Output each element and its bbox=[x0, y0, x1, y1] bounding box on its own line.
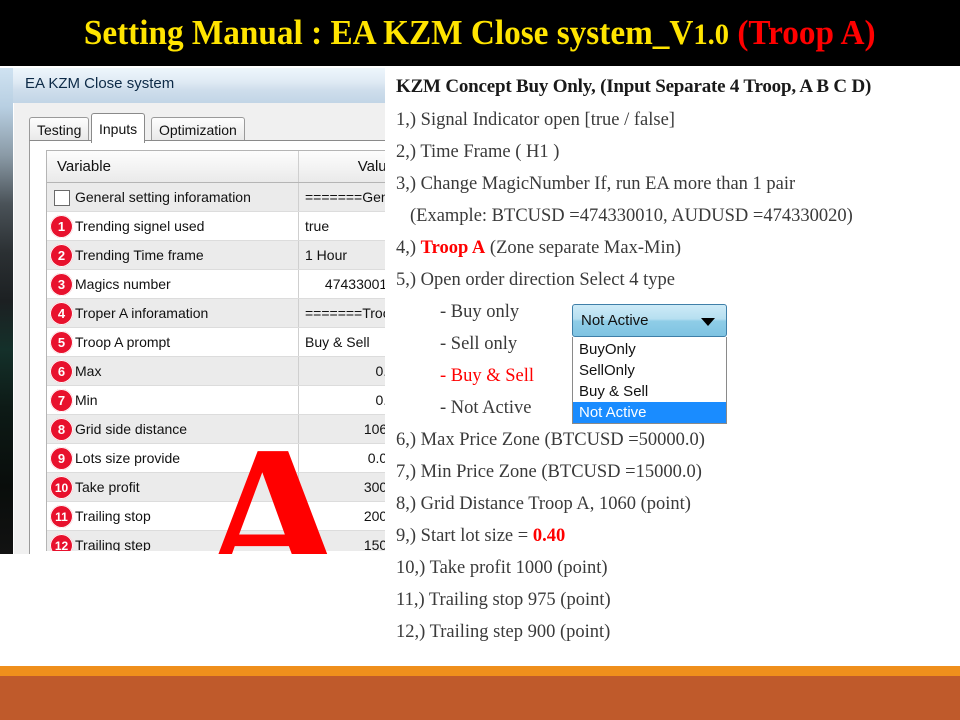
note-option-buy-and-sell-text: - Buy & Sell bbox=[440, 366, 534, 386]
step-badge-11: 11 bbox=[50, 505, 73, 528]
note-line-9-prefix: 9,) Start lot size = bbox=[396, 526, 533, 546]
note-line-9-lotsize: 0.40 bbox=[533, 526, 565, 546]
row-variable: Trending Time frame bbox=[47, 241, 299, 269]
row-variable: Trending signel used bbox=[47, 212, 299, 240]
row-value: 474330010 bbox=[299, 270, 385, 298]
page-title: Setting Manual : EA KZM Close system_V1.… bbox=[84, 13, 876, 53]
row-value: 2000 bbox=[299, 502, 385, 530]
step-badge-9: 9 bbox=[50, 447, 73, 470]
table-row[interactable]: 1 Trending signel used true bbox=[47, 212, 385, 241]
notes-heading: KZM Concept Buy Only, (Input Separate 4 … bbox=[396, 76, 956, 98]
table-row[interactable]: General setting inforamation =======Gene… bbox=[47, 183, 385, 212]
step-badge-5: 5 bbox=[50, 331, 73, 354]
inputs-grid[interactable]: Variable Value General setting inforamat… bbox=[46, 150, 385, 551]
dropdown-option-buyonly[interactable]: BuyOnly bbox=[573, 339, 726, 360]
notes-column: KZM Concept Buy Only, (Input Separate 4 … bbox=[396, 76, 956, 656]
table-row[interactable]: 4 Troper A inforamation =======Trooper bbox=[47, 299, 385, 328]
step-badge-1: 1 bbox=[50, 215, 73, 238]
title-main-text: Setting Manual : EA KZM Close system_V bbox=[84, 13, 694, 52]
row-value: =======Trooper bbox=[299, 299, 385, 327]
note-line-4-prefix: 4,) bbox=[396, 238, 421, 258]
step-badge-6: 6 bbox=[50, 360, 73, 383]
dropdown-options-list[interactable]: BuyOnly SellOnly Buy & Sell Not Active bbox=[572, 337, 727, 424]
row-value: Buy & Sell bbox=[299, 328, 385, 356]
window-edge-strip bbox=[0, 68, 13, 554]
table-row[interactable]: 7 Min 0.6 bbox=[47, 386, 385, 415]
inputs-tab-page: Variable Value General setting inforamat… bbox=[29, 140, 385, 554]
row-value: 3000 bbox=[299, 473, 385, 501]
column-header-value: Value bbox=[299, 151, 385, 182]
mt4-inputs-screenshot: EA KZM Close system Testing Inputs Optim… bbox=[0, 68, 385, 554]
step-badge-8: 8 bbox=[50, 418, 73, 441]
order-direction-dropdown[interactable]: Not Active BuyOnly SellOnly Buy & Sell N… bbox=[572, 304, 727, 424]
row-variable: Grid side distance bbox=[47, 415, 299, 443]
row-value: 1 Hour bbox=[299, 241, 385, 269]
table-row[interactable]: 9 Lots size provide 0.01 bbox=[47, 444, 385, 473]
step-badge-12: 12 bbox=[50, 534, 73, 551]
dropdown-selected-value: Not Active bbox=[573, 312, 649, 329]
title-troop-text: (Troop A) bbox=[738, 13, 876, 52]
tabstrip: Testing Inputs Optimization bbox=[29, 113, 384, 141]
note-line-3: 3,) Change MagicNumber If, run EA more t… bbox=[396, 168, 956, 200]
note-line-10: 10,) Take profit 1000 (point) bbox=[396, 552, 956, 584]
row-value: 0.8 bbox=[299, 357, 385, 385]
row-variable: Trailing stop bbox=[47, 502, 299, 530]
row-variable: Max bbox=[47, 357, 299, 385]
dropdown-button[interactable]: Not Active bbox=[572, 304, 727, 337]
grid-header-row: Variable Value bbox=[47, 151, 385, 183]
row-value: 0.01 bbox=[299, 444, 385, 472]
footer-band bbox=[0, 676, 960, 720]
step-badge-10: 10 bbox=[50, 476, 73, 499]
dialog-titlebar: EA KZM Close system bbox=[13, 68, 385, 104]
row-value: true bbox=[299, 212, 385, 240]
note-line-11: 11,) Trailing stop 975 (point) bbox=[396, 584, 956, 616]
row-value: 1500 bbox=[299, 531, 385, 551]
tab-inputs[interactable]: Inputs bbox=[91, 113, 145, 143]
dropdown-option-buy-and-sell[interactable]: Buy & Sell bbox=[573, 381, 726, 402]
row-variable: Lots size provide bbox=[47, 444, 299, 472]
row-value: 0.6 bbox=[299, 386, 385, 414]
dialog-title: EA KZM Close system bbox=[25, 75, 174, 92]
step-badge-4: 4 bbox=[50, 302, 73, 325]
note-line-9: 9,) Start lot size = 0.40 bbox=[396, 520, 956, 552]
tab-testing[interactable]: Testing bbox=[29, 117, 89, 141]
table-row[interactable]: 5 Troop A prompt Buy & Sell bbox=[47, 328, 385, 357]
table-row[interactable]: 11 Trailing stop 2000 bbox=[47, 502, 385, 531]
row-variable: Troop A prompt bbox=[47, 328, 299, 356]
table-row[interactable]: 10 Take profit 3000 bbox=[47, 473, 385, 502]
title-version-text: 1.0 bbox=[694, 18, 730, 51]
note-line-4-suffix: (Zone separate Max-Min) bbox=[485, 238, 681, 258]
step-badge-3: 3 bbox=[50, 273, 73, 296]
note-line-7: 7,) Min Price Zone (BTCUSD =15000.0) bbox=[396, 456, 956, 488]
row-variable: Take profit bbox=[47, 473, 299, 501]
row-value: 1060 bbox=[299, 415, 385, 443]
table-row[interactable]: 3 Magics number 474330010 bbox=[47, 270, 385, 299]
header-banner: Setting Manual : EA KZM Close system_V1.… bbox=[0, 0, 960, 66]
footer-stripe bbox=[0, 666, 960, 676]
row-variable: Trailing step bbox=[47, 531, 299, 551]
note-line-3-example: (Example: BTCUSD =474330010, AUDUSD =474… bbox=[396, 200, 956, 232]
chevron-down-icon bbox=[701, 318, 715, 326]
table-row[interactable]: 8 Grid side distance 1060 bbox=[47, 415, 385, 444]
table-row[interactable]: 6 Max 0.8 bbox=[47, 357, 385, 386]
row-checkbox[interactable] bbox=[54, 190, 70, 206]
dialog-body: Testing Inputs Optimization Variable Val… bbox=[13, 103, 385, 554]
step-badge-2: 2 bbox=[50, 244, 73, 267]
column-header-variable: Variable bbox=[47, 151, 299, 182]
table-row[interactable]: 2 Trending Time frame 1 Hour bbox=[47, 241, 385, 270]
row-variable: Troper A inforamation bbox=[47, 299, 299, 327]
row-variable: Min bbox=[47, 386, 299, 414]
note-line-2: 2,) Time Frame ( H1 ) bbox=[396, 136, 956, 168]
tab-optimization[interactable]: Optimization bbox=[151, 117, 245, 141]
note-line-4: 4,) Troop A (Zone separate Max-Min) bbox=[396, 232, 956, 264]
note-line-1: 1,) Signal Indicator open [true / false] bbox=[396, 104, 956, 136]
row-variable: General setting inforamation bbox=[47, 183, 299, 211]
note-line-5: 5,) Open order direction Select 4 type bbox=[396, 264, 956, 296]
table-row[interactable]: 12 Trailing step 1500 bbox=[47, 531, 385, 551]
row-variable: Magics number bbox=[47, 270, 299, 298]
dropdown-option-not-active[interactable]: Not Active bbox=[573, 402, 726, 423]
step-badge-7: 7 bbox=[50, 389, 73, 412]
note-line-8: 8,) Grid Distance Troop A, 1060 (point) bbox=[396, 488, 956, 520]
note-line-6: 6,) Max Price Zone (BTCUSD =50000.0) bbox=[396, 424, 956, 456]
dropdown-option-sellonly[interactable]: SellOnly bbox=[573, 360, 726, 381]
note-line-12: 12,) Trailing step 900 (point) bbox=[396, 616, 956, 648]
note-line-4-troop: Troop A bbox=[421, 238, 486, 258]
row-value: =======General bbox=[299, 183, 385, 211]
